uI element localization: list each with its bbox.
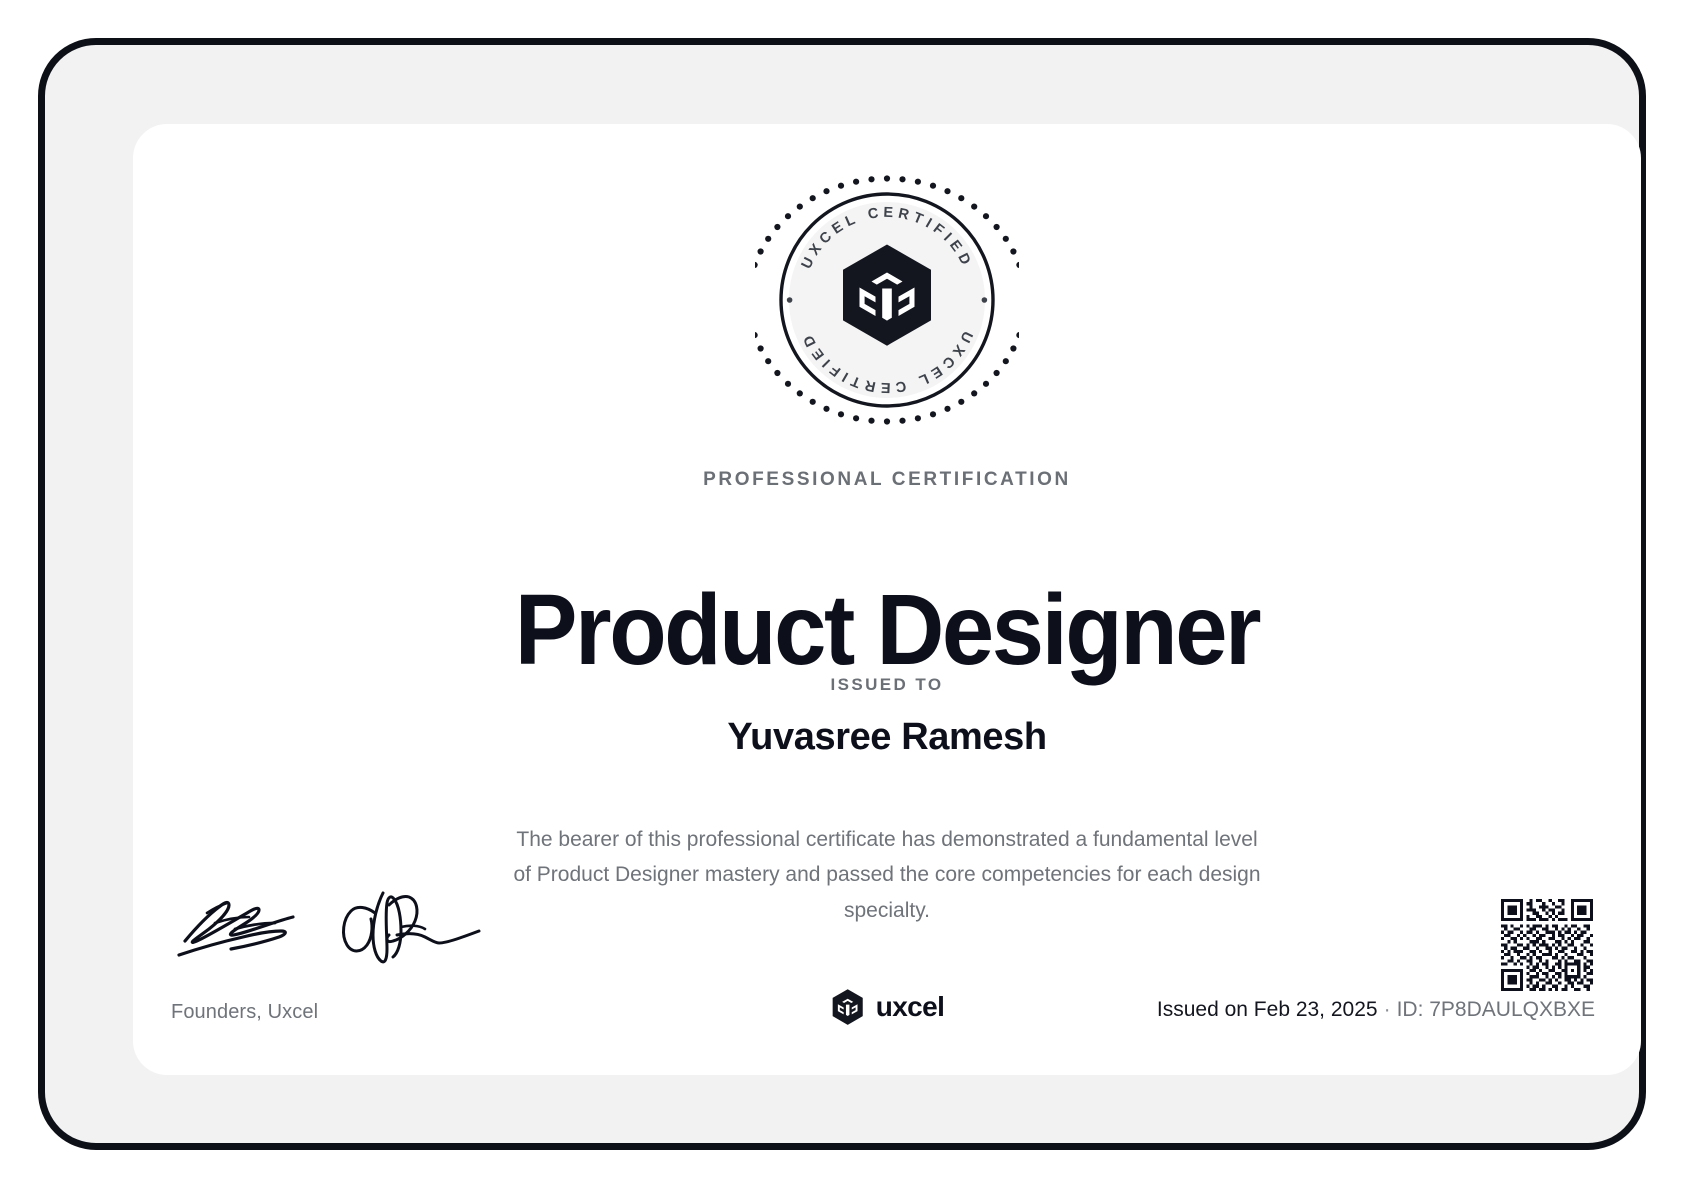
seal-separator-dot-left xyxy=(787,297,793,303)
certification-seal: UXCEL CERTIFIED UXCEL CERTIFIED xyxy=(755,168,1019,432)
kicker-label: PROFESSIONAL CERTIFICATION xyxy=(133,469,1641,491)
signature-mark-two xyxy=(331,891,491,969)
issued-to-label: ISSUED TO xyxy=(133,675,1641,695)
signature-caption: Founders, Uxcel xyxy=(171,1001,318,1024)
certificate-description: The bearer of this professional certific… xyxy=(507,822,1267,928)
qr-code[interactable] xyxy=(1501,899,1593,991)
brand-footer: uxcel xyxy=(830,988,945,1026)
certificate-id: ID: 7P8DAULQXBXE xyxy=(1397,998,1595,1021)
signature-mark-one xyxy=(171,889,336,959)
seal-separator-dot-right xyxy=(982,297,988,303)
certificate-card: UXCEL CERTIFIED UXCEL CERTIFIED xyxy=(133,124,1641,1075)
issue-date: Issued on Feb 23, 2025 xyxy=(1157,998,1378,1021)
recipient-name: Yuvasree Ramesh xyxy=(133,716,1641,759)
uxcel-cube-icon xyxy=(830,988,866,1026)
certificate-frame: UXCEL CERTIFIED UXCEL CERTIFIED xyxy=(38,38,1646,1150)
page-title: Product Designer xyxy=(178,576,1596,684)
signature-block xyxy=(171,889,501,971)
brand-wordmark: uxcel xyxy=(876,991,945,1023)
issue-meta: Issued on Feb 23, 2025·ID: 7P8DAULQXBXE xyxy=(1157,998,1595,1022)
meta-separator: · xyxy=(1384,998,1391,1021)
